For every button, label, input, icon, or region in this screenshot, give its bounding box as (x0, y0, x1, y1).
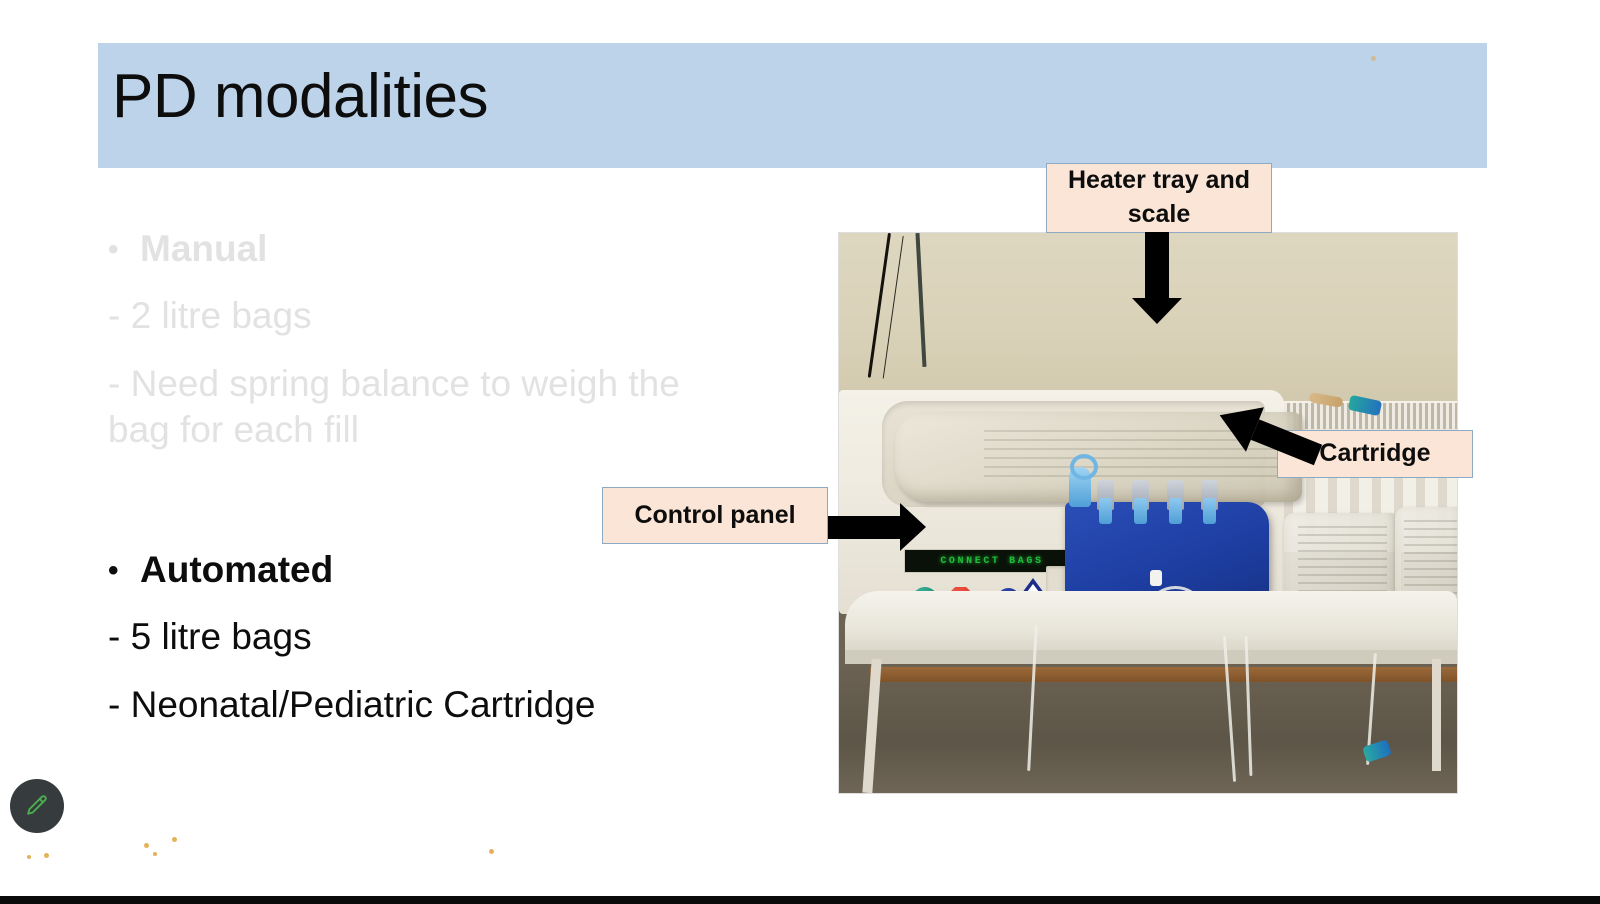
bullet-heading-automated: •Automated (108, 549, 748, 592)
arrow-to-control-panel (828, 516, 900, 539)
callout-heater-tray: Heater tray and scale (1046, 163, 1272, 233)
arrow-to-heater-tray (1145, 232, 1169, 298)
bullet-heading-label: Manual (140, 228, 267, 269)
photo-clamp (1097, 480, 1114, 510)
photo-floor (839, 664, 1457, 793)
photo-wooden-skirting (870, 667, 1457, 682)
bullet-subitem: - Neonatal/Pediatric Cartridge (108, 682, 748, 728)
bullet-block-automated: •Automated - 5 litre bags - Neonatal/Ped… (108, 549, 748, 728)
ink-speck (1371, 56, 1376, 61)
ink-pen-tool-button[interactable] (10, 779, 64, 833)
ink-speck (172, 837, 177, 842)
bullet-glyph: • (108, 554, 140, 589)
ink-speck (489, 849, 494, 854)
ink-speck (144, 843, 149, 848)
callout-control-panel: Control panel (602, 487, 828, 544)
photo-cartridge-spike (1069, 467, 1091, 507)
bullet-subitem: - 5 litre bags (108, 614, 748, 660)
ink-speck (27, 855, 31, 859)
bullet-heading-manual: •Manual (108, 228, 748, 271)
bullet-block-manual: •Manual - 2 litre bags - Need spring bal… (108, 228, 748, 453)
photo-clamp (1167, 480, 1184, 510)
photo-clamp (1132, 480, 1149, 510)
lcd-text: CONNECT BAGS (940, 556, 1043, 567)
bullet-subitem: - Need spring balance to weigh the bag f… (108, 361, 748, 454)
pen-icon (24, 793, 50, 819)
bullet-glyph: • (108, 233, 140, 268)
photo-trolley-leg (1432, 659, 1441, 771)
bullet-subitem: - 2 litre bags (108, 293, 748, 339)
bottom-bar (0, 896, 1600, 904)
body-content: •Manual - 2 litre bags - Need spring bal… (108, 228, 748, 728)
page-title: PD modalities (112, 66, 488, 128)
ink-speck (44, 853, 49, 858)
photo-clamp (1201, 480, 1218, 510)
ink-speck (153, 852, 157, 856)
photo-trolley-top (845, 591, 1457, 658)
slide-canvas: PD modalities •Manual - 2 litre bags - N… (0, 0, 1600, 904)
bullet-heading-label: Automated (140, 549, 333, 590)
